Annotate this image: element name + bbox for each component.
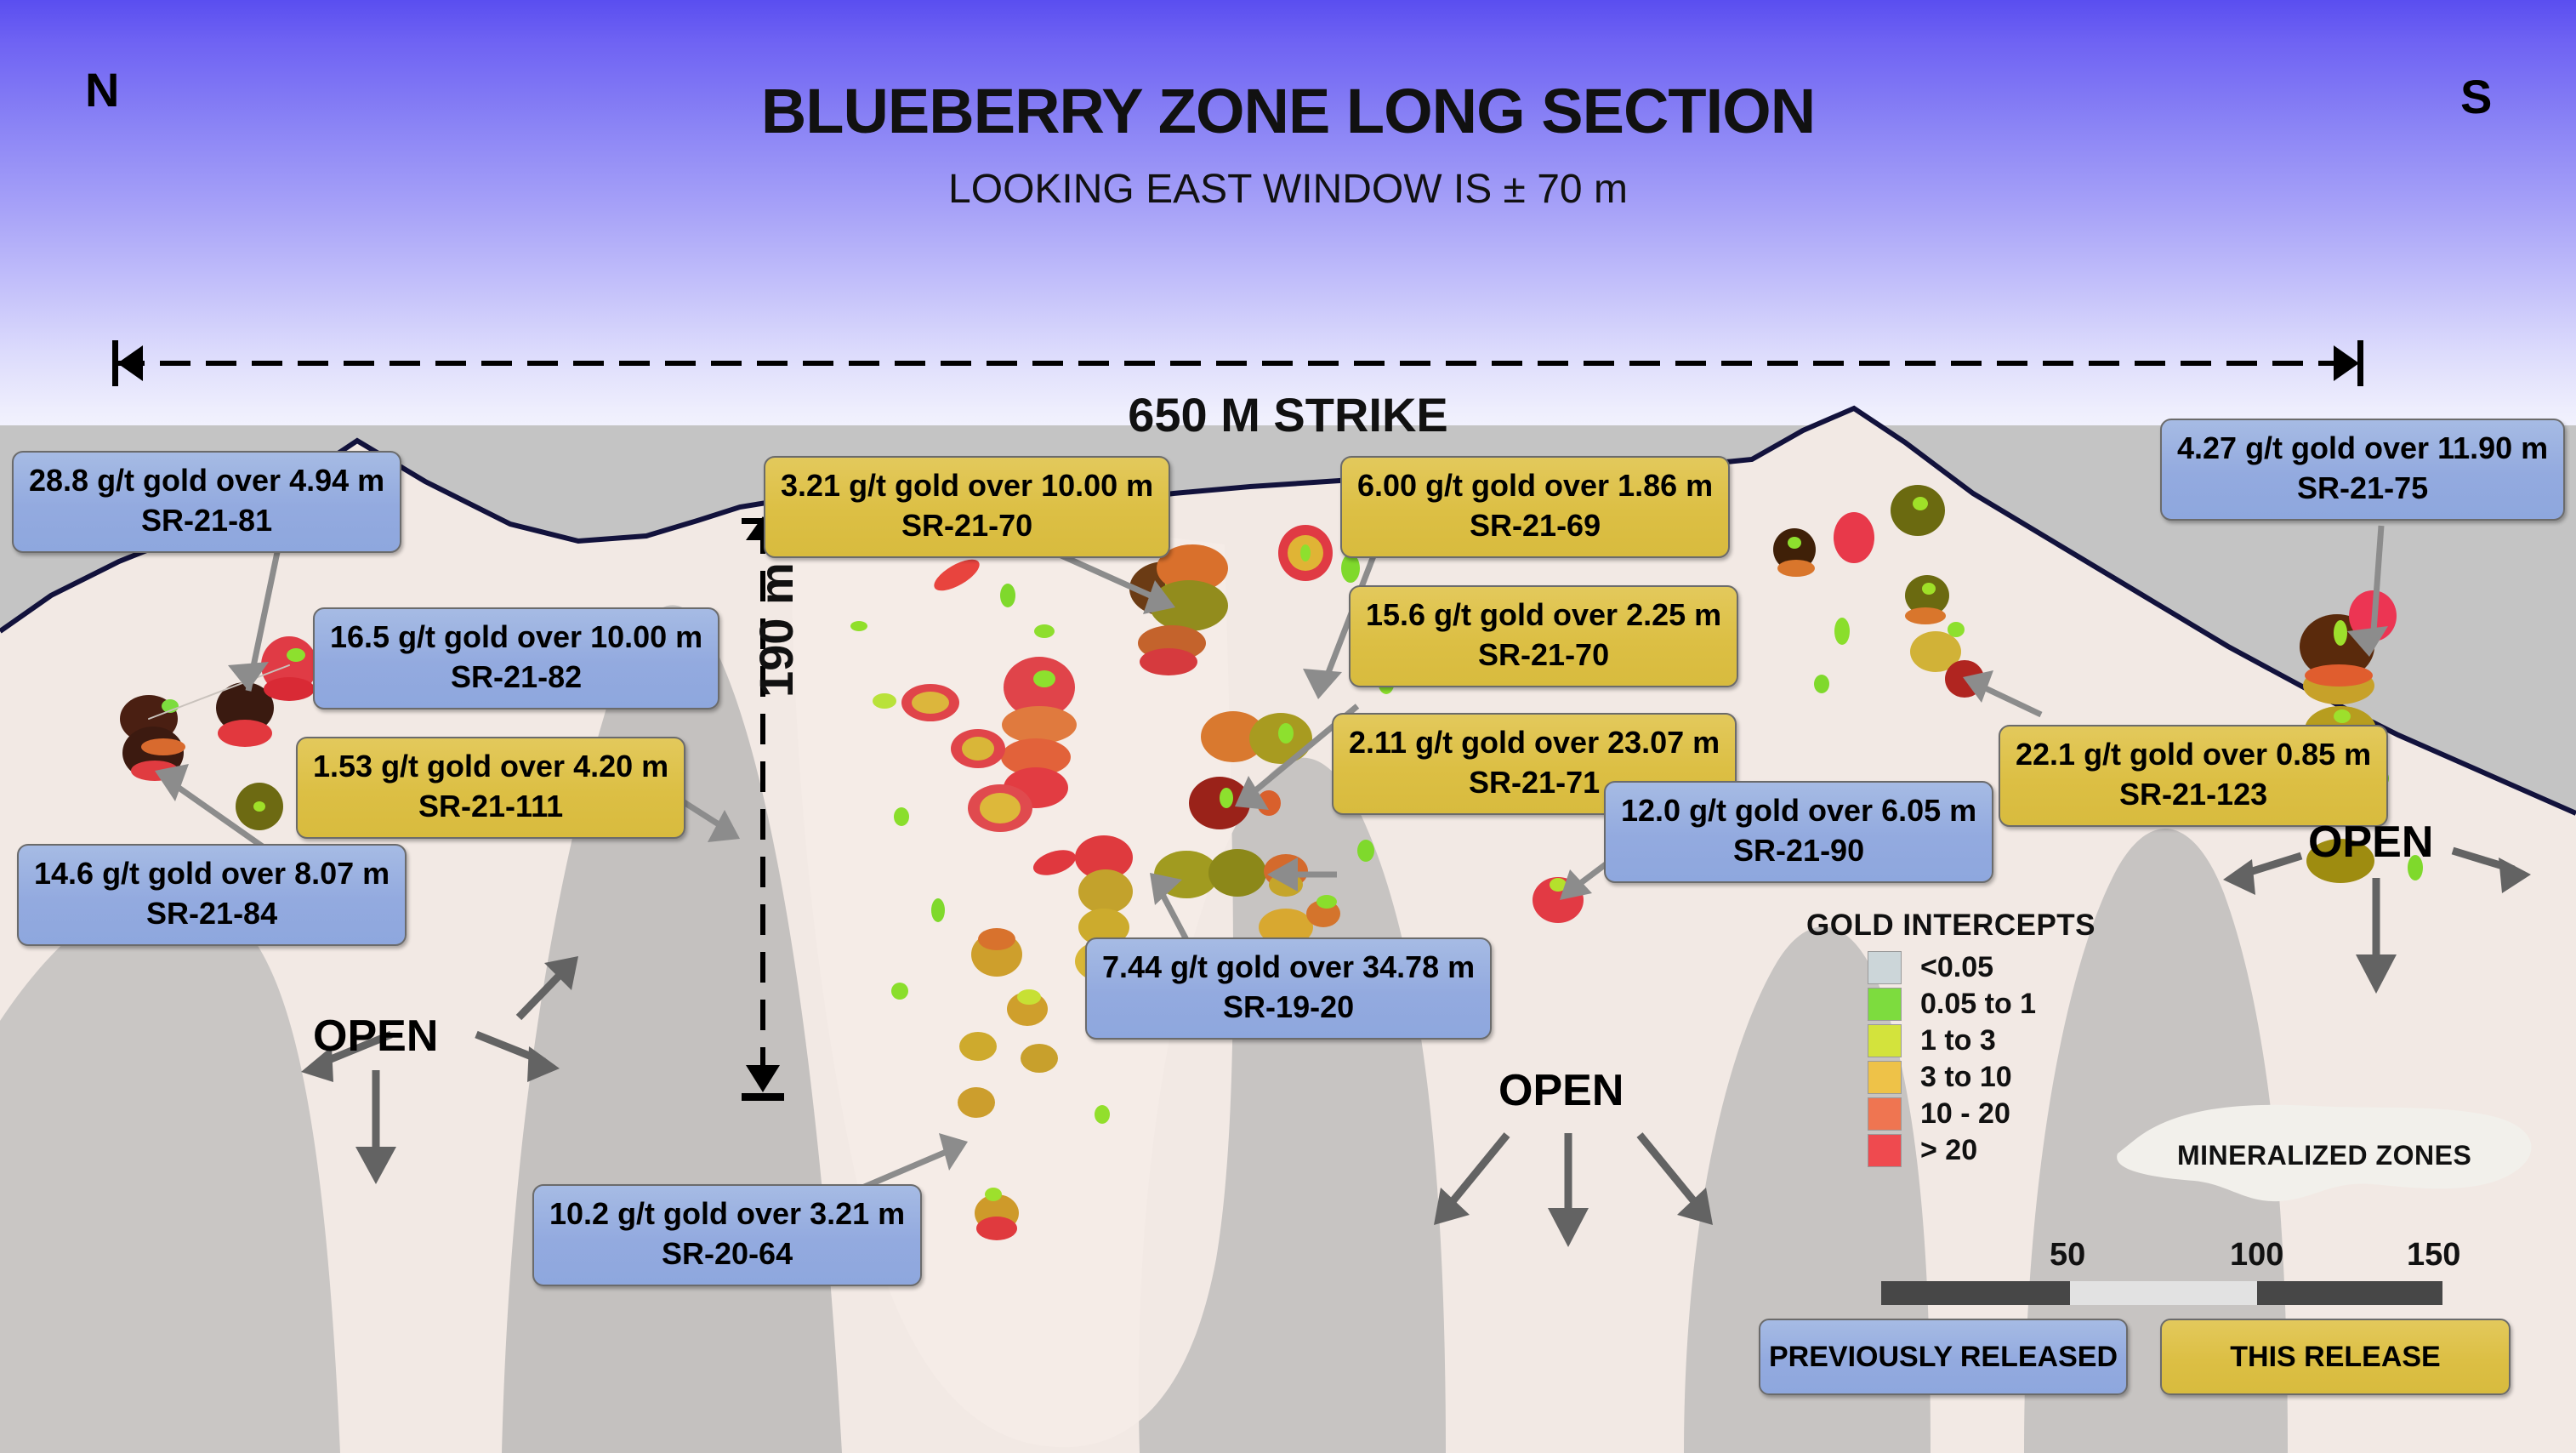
- depth-dimension-label: 190 m: [748, 562, 804, 698]
- callout-grade-text: 4.27 g/t gold over 11.90 m: [2177, 429, 2548, 469]
- depth-cap-bottom: [742, 1093, 784, 1101]
- legend-swatch-3-to-10: [1868, 1061, 1902, 1094]
- legend-item: 3 to 10: [1868, 1060, 2036, 1094]
- callout-hole-id: SR-19-20: [1102, 988, 1475, 1028]
- long-section-figure: N S BLUEBERRY ZONE LONG SECTION LOOKING …: [0, 0, 2576, 1453]
- scale-bar-segment-dark-2: [2257, 1281, 2442, 1305]
- callout-hole-id: SR-21-70: [781, 506, 1153, 546]
- callout-grade-text: 10.2 g/t gold over 3.21 m: [549, 1194, 905, 1234]
- strike-dimension-line: [114, 361, 2359, 366]
- legend-swatch-1-to-3: [1868, 1024, 1902, 1057]
- callout-hole-id: SR-21-70: [1366, 635, 1721, 675]
- legend-item: > 20: [1868, 1133, 2036, 1167]
- callout-grade-text: 2.11 g/t gold over 23.07 m: [1349, 723, 1720, 763]
- callout-hole-id: SR-20-64: [549, 1234, 905, 1274]
- legend-label: 3 to 10: [1920, 1061, 2012, 1094]
- scale-bar: 50 100 150: [1881, 1281, 2442, 1305]
- callout-hole-id: SR-21-75: [2177, 469, 2548, 509]
- callout-sr-21-90[interactable]: 12.0 g/t gold over 6.05 m SR-21-90: [1604, 781, 1993, 883]
- legend-item: 1 to 3: [1868, 1023, 2036, 1057]
- callout-sr-19-20[interactable]: 7.44 g/t gold over 34.78 m SR-19-20: [1085, 937, 1492, 1040]
- this-release-legend-button[interactable]: THIS RELEASE: [2160, 1319, 2511, 1395]
- callout-grade-text: 22.1 g/t gold over 0.85 m: [2016, 735, 2371, 775]
- callout-grade-text: 3.21 g/t gold over 10.00 m: [781, 466, 1153, 506]
- scale-bar-segment-dark-1: [1881, 1281, 2070, 1305]
- legend-item: 10 - 20: [1868, 1097, 2036, 1131]
- callout-grade-text: 16.5 g/t gold over 10.00 m: [330, 618, 702, 658]
- callout-grade-text: 14.6 g/t gold over 8.07 m: [34, 854, 390, 894]
- callout-sr-21-69[interactable]: 6.00 g/t gold over 1.86 m SR-21-69: [1340, 456, 1730, 558]
- scale-tick-150: 150: [2407, 1237, 2460, 1274]
- callout-sr-21-70-b[interactable]: 15.6 g/t gold over 2.25 m SR-21-70: [1349, 585, 1738, 687]
- legend-label: 10 - 20: [1920, 1097, 2010, 1131]
- callout-hole-id: SR-21-111: [313, 787, 668, 827]
- callout-sr-21-82[interactable]: 16.5 g/t gold over 10.00 m SR-21-82: [313, 607, 719, 709]
- open-label-center: OPEN: [1498, 1065, 1624, 1116]
- previously-released-legend-button[interactable]: PREVIOUSLY RELEASED: [1759, 1319, 2128, 1395]
- legend-label: 0.05 to 1: [1920, 988, 2036, 1021]
- callout-hole-id: SR-21-123: [2016, 775, 2371, 815]
- callout-sr-21-84[interactable]: 14.6 g/t gold over 8.07 m SR-21-84: [17, 844, 407, 946]
- callout-sr-21-70-a[interactable]: 3.21 g/t gold over 10.00 m SR-21-70: [764, 456, 1170, 558]
- legend-swatch-005-to-1: [1868, 988, 1902, 1021]
- legend-swatch-lt-005: [1868, 951, 1902, 984]
- gold-intercept-legend: <0.05 0.05 to 1 1 to 3 3 to 10 10 - 20 >…: [1868, 950, 2036, 1170]
- callout-grade-text: 7.44 g/t gold over 34.78 m: [1102, 948, 1475, 988]
- legend-label: > 20: [1920, 1134, 1977, 1167]
- legend-item: 0.05 to 1: [1868, 987, 2036, 1021]
- mineralized-zones-label: MINERALIZED ZONES: [2177, 1140, 2471, 1171]
- callout-grade-text: 28.8 g/t gold over 4.94 m: [29, 461, 384, 501]
- callout-sr-21-75[interactable]: 4.27 g/t gold over 11.90 m SR-21-75: [2160, 419, 2565, 521]
- legend-swatch-10-to-20: [1868, 1097, 1902, 1131]
- callout-hole-id: SR-21-69: [1357, 506, 1713, 546]
- callout-hole-id: SR-21-90: [1621, 831, 1976, 871]
- depth-arrowhead-bottom-icon: [746, 1065, 780, 1092]
- scale-tick-50: 50: [2050, 1237, 2085, 1274]
- legend-item: <0.05: [1868, 950, 2036, 984]
- callout-sr-21-81[interactable]: 28.8 g/t gold over 4.94 m SR-21-81: [12, 451, 401, 553]
- legend-label: 1 to 3: [1920, 1024, 1996, 1057]
- callout-sr-20-64[interactable]: 10.2 g/t gold over 3.21 m SR-20-64: [532, 1184, 922, 1286]
- legend-swatch-gt-20: [1868, 1134, 1902, 1167]
- legend-label: <0.05: [1920, 951, 1993, 984]
- callout-grade-text: 6.00 g/t gold over 1.86 m: [1357, 466, 1713, 506]
- open-label-left: OPEN: [313, 1011, 438, 1062]
- callout-grade-text: 12.0 g/t gold over 6.05 m: [1621, 791, 1976, 831]
- legend-title: GOLD INTERCEPTS: [1806, 909, 2095, 943]
- callout-hole-id: SR-21-81: [29, 501, 384, 541]
- callout-grade-text: 1.53 g/t gold over 4.20 m: [313, 747, 668, 787]
- scale-tick-100: 100: [2230, 1237, 2283, 1274]
- callout-hole-id: SR-21-84: [34, 894, 390, 934]
- open-label-right: OPEN: [2308, 817, 2433, 868]
- callout-sr-21-111[interactable]: 1.53 g/t gold over 4.20 m SR-21-111: [296, 737, 685, 839]
- callout-grade-text: 15.6 g/t gold over 2.25 m: [1366, 595, 1721, 635]
- callout-hole-id: SR-21-82: [330, 658, 702, 698]
- callout-sr-21-123[interactable]: 22.1 g/t gold over 0.85 m SR-21-123: [1999, 725, 2388, 827]
